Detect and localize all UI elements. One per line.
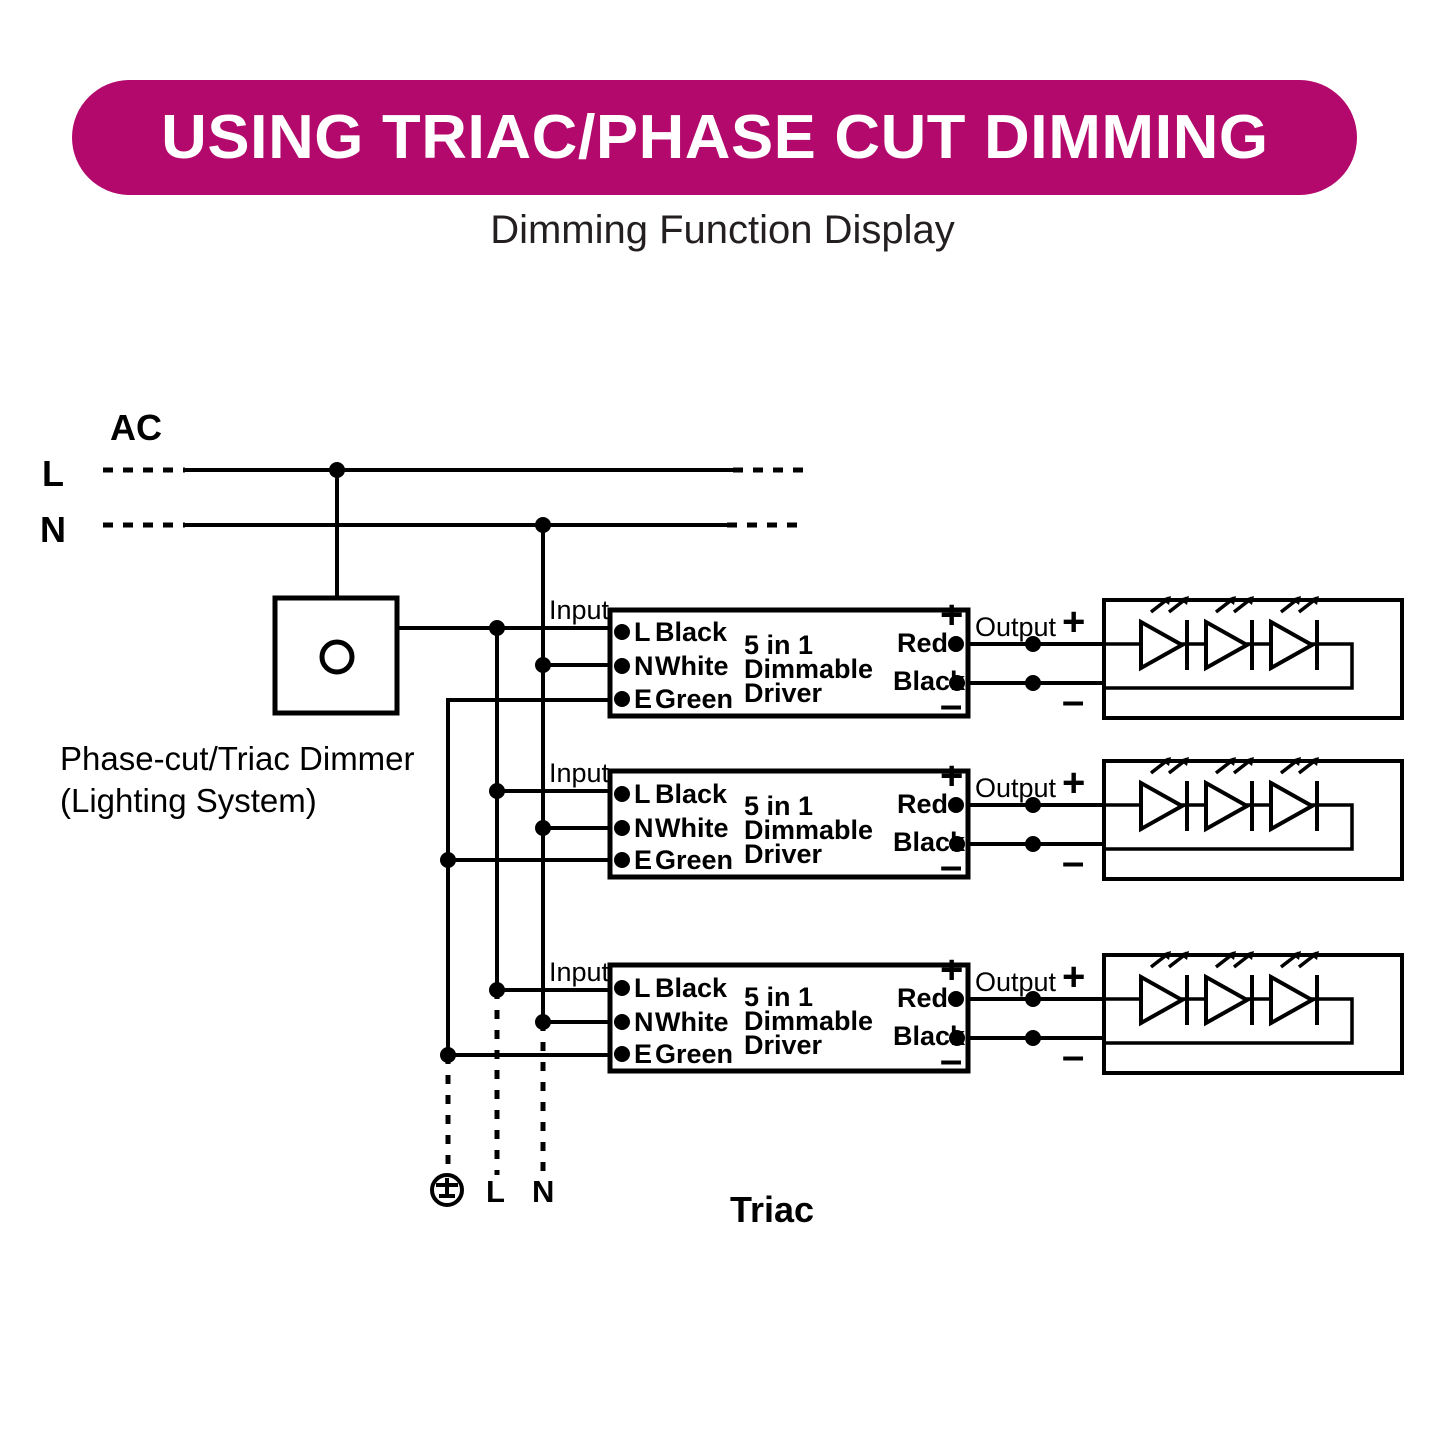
led1-minus-label: –: [1062, 679, 1084, 723]
junction-dot-l3: [489, 982, 505, 998]
driver2-title-3: Driver: [744, 839, 823, 869]
driver-row-3: Input L Black N White E Green 5 in 1 Dim…: [489, 948, 1402, 1082]
input-label-3: Input: [549, 957, 610, 987]
input-label-2: Input: [549, 758, 610, 788]
dimmer-caption-line1: Phase-cut/Triac Dimmer: [60, 740, 415, 777]
junction-dot-n1: [535, 657, 551, 673]
driver3-in-wire-0: Black: [655, 973, 728, 1003]
driver3-out-wire-0: Red: [897, 983, 948, 1013]
driver1-in-pin-0: L: [634, 617, 651, 647]
driver1-in-wire-1: White: [655, 651, 729, 681]
driver1-in-wire-2: Green: [655, 684, 733, 714]
junction-dot-out-minus-1: [1025, 675, 1041, 691]
terminal-dot-n-1: [614, 658, 630, 674]
driver1-in-pin-1: N: [634, 651, 654, 681]
terminal-dot-e-1: [614, 691, 630, 707]
terminal-dot-n-3: [614, 1014, 630, 1030]
driver2-in-pin-0: L: [634, 779, 651, 809]
junction-dot-n-main: [535, 517, 551, 533]
led2-plus-label: +: [1062, 761, 1085, 805]
led1-plus-label: +: [1062, 600, 1085, 644]
diagram-page: USING TRIAC/PHASE CUT DIMMING Dimming Fu…: [0, 0, 1445, 1445]
driver3-out-minus: –: [940, 1038, 962, 1082]
driver1-title-3: Driver: [744, 678, 823, 708]
driver1-out-minus: –: [940, 683, 962, 727]
diagram-title: Triac: [730, 1189, 814, 1230]
driver3-in-pin-2: E: [634, 1039, 652, 1069]
driver2-in-wire-2: Green: [655, 845, 733, 875]
terminal-dot-red-1: [948, 636, 964, 652]
driver3-in-pin-0: L: [634, 973, 651, 1003]
led3-plus-label: +: [1062, 955, 1085, 999]
junction-dot-out-minus-2: [1025, 836, 1041, 852]
terminal-dot-e-3: [614, 1046, 630, 1062]
driver3-in-wire-2: Green: [655, 1039, 733, 1069]
driver-row-2: Input L Black N White E Green 5 in 1 Dim…: [489, 754, 1402, 888]
junction-dot-l-dimmer: [329, 462, 345, 478]
driver1-in-wire-0: Black: [655, 617, 728, 647]
terminal-dot-n-2: [614, 820, 630, 836]
bottom-l-label: L: [486, 1174, 505, 1209]
ac-l-label: L: [42, 453, 64, 494]
junction-dot-out-plus-2: [1025, 797, 1041, 813]
terminal-dot-red-2: [948, 797, 964, 813]
driver2-in-pin-1: N: [634, 813, 654, 843]
driver3-in-pin-1: N: [634, 1007, 654, 1037]
driver3-in-wire-1: White: [655, 1007, 729, 1037]
driver2-in-wire-0: Black: [655, 779, 728, 809]
junction-dot-out-plus-3: [1025, 991, 1041, 1007]
junction-dot-out-minus-3: [1025, 1030, 1041, 1046]
driver-row-1: Input L Black N White E Green 5 in 1 Dim…: [497, 593, 1402, 727]
terminal-dot-red-3: [948, 991, 964, 1007]
wiring-diagram: AC L N Phase-cut/Triac Dimmer (Lighting …: [0, 0, 1445, 1445]
terminal-dot-l-3: [614, 980, 630, 996]
output-label-1: Output: [975, 612, 1057, 642]
driver3-title-3: Driver: [744, 1030, 823, 1060]
junction-dot-n2: [535, 820, 551, 836]
input-label-1: Input: [549, 595, 610, 625]
terminal-dot-e-2: [614, 852, 630, 868]
driver1-in-pin-2: E: [634, 684, 652, 714]
junction-dot-n3: [535, 1014, 551, 1030]
junction-dot-out-plus-1: [1025, 636, 1041, 652]
driver2-out-wire-0: Red: [897, 789, 948, 819]
junction-dot-e2: [440, 852, 456, 868]
terminal-dot-l-2: [614, 786, 630, 802]
driver1-out-wire-0: Red: [897, 628, 948, 658]
output-label-2: Output: [975, 773, 1057, 803]
driver2-out-minus: –: [940, 844, 962, 888]
bottom-n-label: N: [532, 1174, 554, 1209]
junction-dot-l2: [489, 783, 505, 799]
led3-minus-label: –: [1062, 1034, 1084, 1078]
earth-ground-icon: [432, 1175, 462, 1205]
phase-cut-dimmer[interactable]: [275, 598, 397, 713]
dimmer-caption-line2: (Lighting System): [60, 782, 317, 819]
terminal-dot-l-1: [614, 624, 630, 640]
ac-n-label: N: [40, 509, 66, 550]
dimmer-body[interactable]: [275, 598, 397, 713]
driver2-in-pin-2: E: [634, 845, 652, 875]
led2-minus-label: –: [1062, 840, 1084, 884]
driver2-in-wire-1: White: [655, 813, 729, 843]
output-label-3: Output: [975, 967, 1057, 997]
ac-label: AC: [110, 407, 162, 448]
